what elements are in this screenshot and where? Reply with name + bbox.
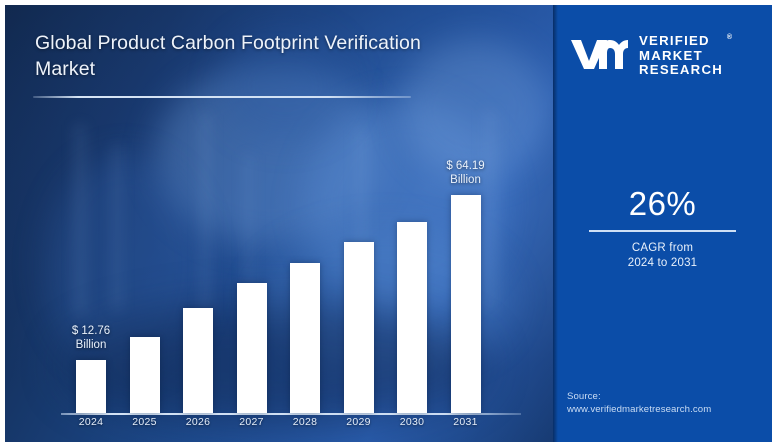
bar-2028	[290, 263, 320, 413]
bar-2030	[397, 222, 427, 413]
bar-value-label-2031: $ 64.19 Billion	[423, 159, 509, 187]
bar-chart-plot-area: 20242025202620272028202920302031	[5, 5, 553, 442]
cagr-caption: CAGR from 2024 to 2031	[553, 241, 772, 271]
cagr-caption-line1: CAGR from	[632, 242, 693, 254]
x-axis-tick-2026: 2026	[174, 416, 222, 428]
verified-market-research-logo[interactable]: VERIFIED MARKET RESEARCH ®	[569, 30, 761, 82]
bar-2031	[451, 195, 481, 413]
x-axis-tick-2025: 2025	[121, 416, 169, 428]
x-axis-tick-2031: 2031	[442, 416, 490, 428]
vmr-monogram-icon	[569, 37, 631, 76]
cagr-divider	[589, 230, 736, 232]
bar-2026	[183, 308, 213, 413]
cagr-caption-line2: 2024 to 2031	[628, 257, 698, 269]
bar-2027	[237, 283, 267, 413]
cagr-value: 26%	[553, 185, 772, 223]
bar-2024	[76, 360, 106, 413]
bar-2025	[130, 337, 160, 413]
bar-value-label-2024-unit: Billion	[48, 338, 134, 352]
cagr-block: 26% CAGR from 2024 to 2031	[553, 185, 772, 271]
x-axis-tick-2028: 2028	[281, 416, 329, 428]
x-axis-tick-2029: 2029	[335, 416, 383, 428]
x-axis-line	[61, 413, 521, 415]
x-axis-tick-2027: 2027	[228, 416, 276, 428]
registered-trademark-icon: ®	[727, 31, 732, 46]
logo-line-market: MARKET	[639, 48, 703, 63]
bar-value-label-2031-unit: Billion	[423, 173, 509, 187]
source-block: Source: www.verifiedmarketresearch.com	[567, 390, 711, 416]
source-label: Source:	[567, 390, 711, 403]
bar-2029	[344, 242, 374, 413]
infographic-canvas: Global Product Carbon Footprint Verifica…	[5, 5, 772, 442]
logo-line-research: RESEARCH	[639, 62, 723, 77]
logo-wordmark: VERIFIED MARKET RESEARCH ®	[639, 34, 723, 78]
x-axis-tick-2030: 2030	[388, 416, 436, 428]
bar-value-label-2024: $ 12.76 Billion	[48, 324, 134, 352]
brand-panel: VERIFIED MARKET RESEARCH ® 26% CAGR from…	[553, 5, 772, 442]
x-axis-tick-2024: 2024	[67, 416, 115, 428]
source-url[interactable]: www.verifiedmarketresearch.com	[567, 403, 711, 416]
logo-line-verified: VERIFIED	[639, 33, 710, 48]
bar-value-label-2031-amount: $ 64.19	[423, 159, 509, 173]
chart-panel: Global Product Carbon Footprint Verifica…	[5, 5, 553, 442]
bar-value-label-2024-amount: $ 12.76	[48, 324, 134, 338]
